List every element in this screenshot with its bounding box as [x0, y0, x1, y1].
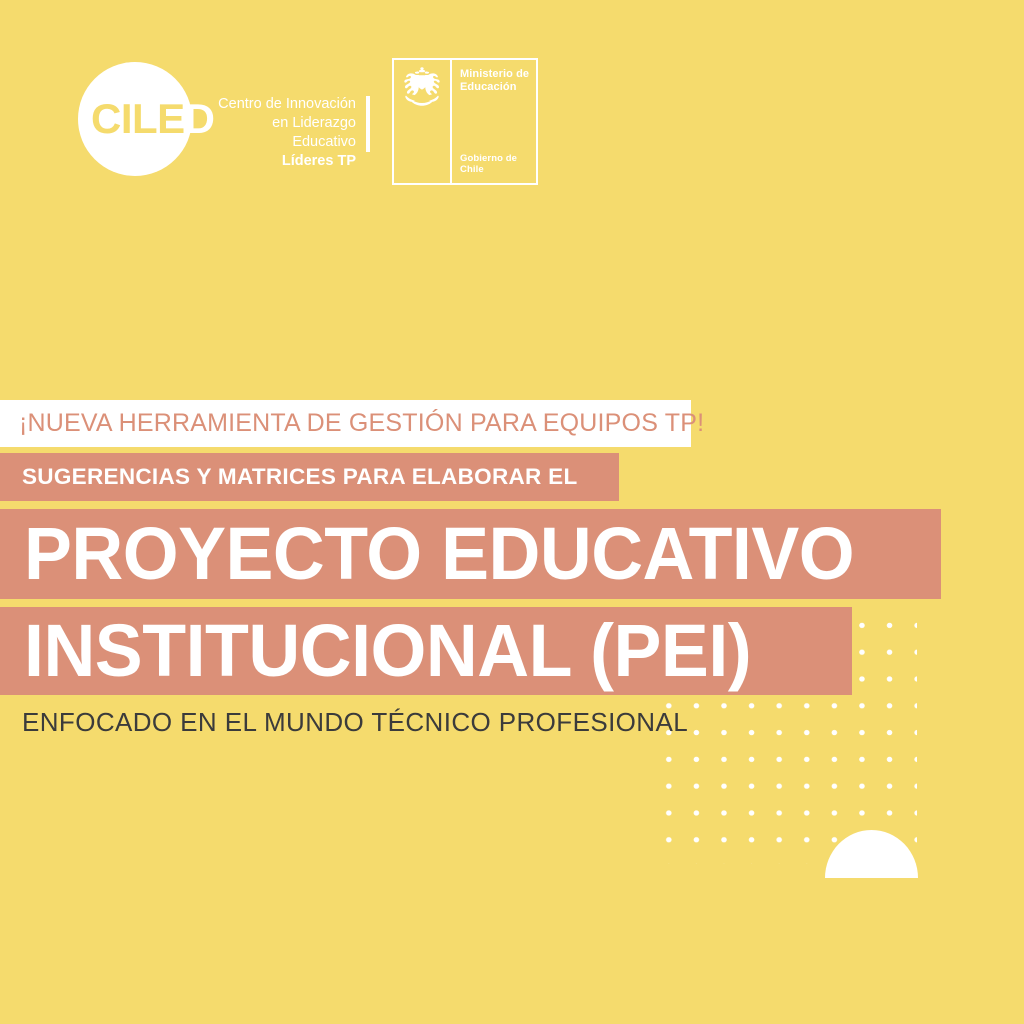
ministry-title: Ministerio de Educación	[460, 68, 529, 93]
ciled-tagline-line-1: Centro de Innovación	[216, 95, 356, 114]
eyebrow-band: ¡NUEVA HERRAMIENTA DE GESTIÓN PARA EQUIP…	[0, 400, 691, 447]
kicker-band: SUGERENCIAS Y MATRICES PARA ELABORAR EL	[0, 453, 619, 501]
ciled-logo: CILED Centro de Innovación en Liderazgo …	[78, 62, 378, 180]
subtitle-text: ENFOCADO EN EL MUNDO TÉCNICO PROFESIONAL	[22, 707, 688, 738]
ministry-title-line-2: Educación	[460, 81, 529, 94]
ministry-logo-divider	[450, 60, 452, 183]
logo-divider-bar	[366, 96, 370, 152]
kicker-text: SUGERENCIAS Y MATRICES PARA ELABORAR EL	[22, 464, 578, 490]
ciled-tagline-line-3: Líderes TP	[216, 152, 356, 171]
ministry-title-line-1: Ministerio de	[460, 68, 529, 81]
ciled-tagline: Centro de Innovación en Liderazgo Educat…	[216, 95, 356, 171]
title-band-line-2: INSTITUCIONAL (PEI)	[0, 607, 852, 695]
title-text-line-2: INSTITUCIONAL (PEI)	[24, 607, 751, 695]
ministry-of-education-logo: Ministerio de Educación Gobierno de Chil…	[392, 58, 538, 185]
ciled-wordmark: CILED	[91, 92, 215, 146]
ministry-government-label: Gobierno de Chile	[460, 153, 536, 175]
chile-coat-of-arms-icon	[399, 66, 445, 108]
poster-canvas: CILED Centro de Innovación en Liderazgo …	[0, 0, 1024, 1024]
eyebrow-text: ¡NUEVA HERRAMIENTA DE GESTIÓN PARA EQUIP…	[19, 409, 704, 438]
title-text-line-1: PROYECTO EDUCATIVO	[24, 509, 854, 599]
ciled-wordmark-inner: CILE	[91, 95, 185, 142]
title-band-line-1: PROYECTO EDUCATIVO	[0, 509, 941, 599]
ciled-tagline-line-2: en Liderazgo Educativo	[216, 114, 356, 152]
ciled-wordmark-outer: D	[185, 95, 215, 142]
